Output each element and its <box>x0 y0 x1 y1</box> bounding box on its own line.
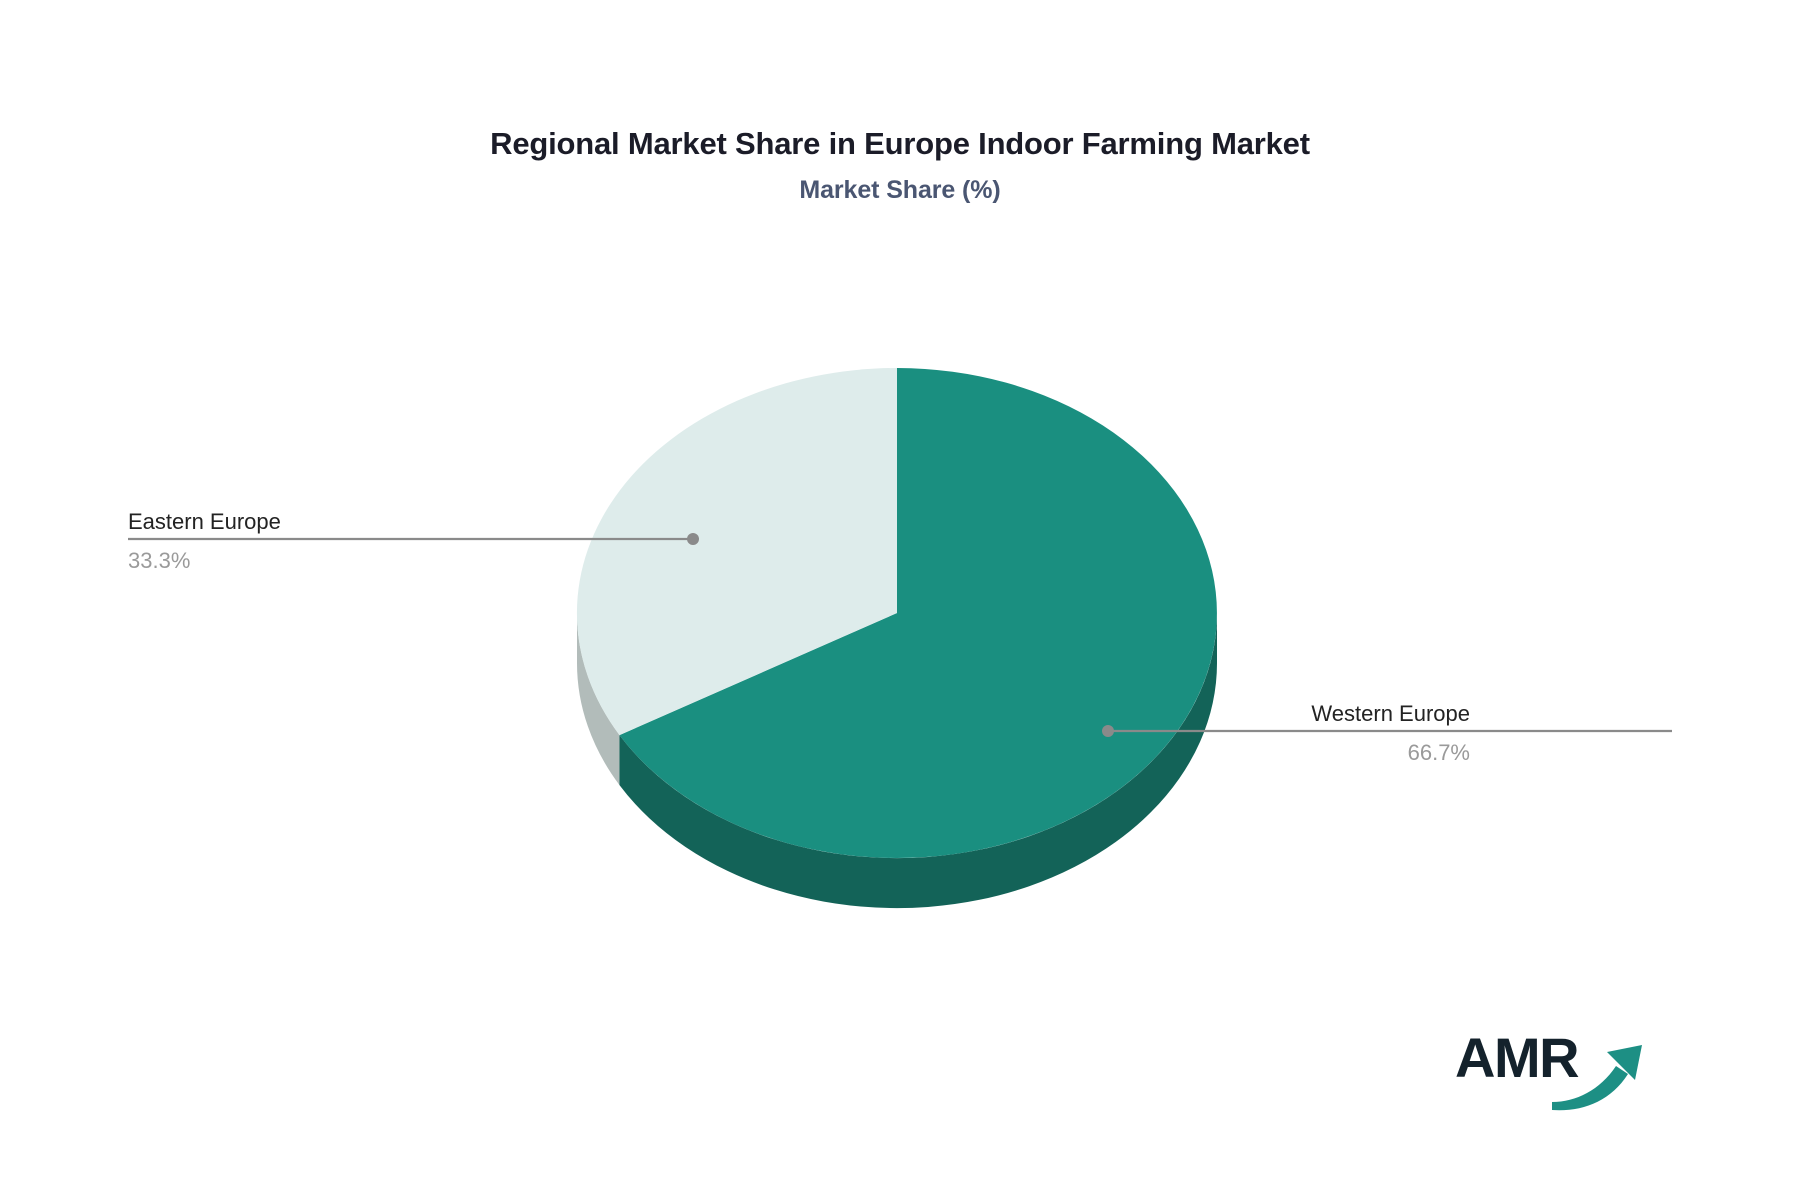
pie-graphic <box>0 0 1800 1196</box>
pie-chart-figure: Regional Market Share in Europe Indoor F… <box>0 0 1800 1196</box>
leader-dot-eastern-europe <box>687 533 699 545</box>
arrow-up-right-swoosh-icon <box>1550 1036 1660 1116</box>
leader-dot-western-europe <box>1102 725 1114 737</box>
amr-logo: AMR <box>1455 1030 1655 1110</box>
